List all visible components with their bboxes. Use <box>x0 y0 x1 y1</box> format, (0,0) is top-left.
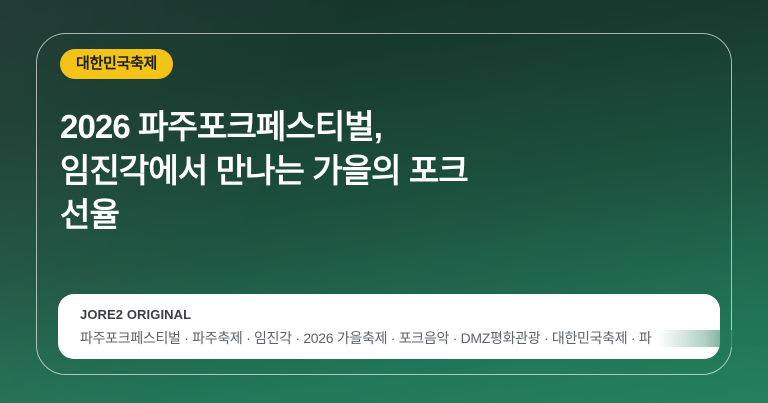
original-label: JORE2 ORIGINAL <box>80 307 720 323</box>
tag-list-text: 파주포크페스티벌 · 파주축제 · 임진각 · 2026 가을축제 · 포크음악… <box>80 330 651 346</box>
tag-list-fade-overlay <box>658 330 768 348</box>
page-title-line-1: 2026 파주포크페스티벌, <box>60 105 732 149</box>
original-info-card: JORE2 ORIGINAL 파주포크페스티벌 · 파주축제 · 임진각 · 2… <box>58 294 720 359</box>
hero-content: 대한민국축제 2026 파주포크페스티벌, 임진각에서 만나는 가을의 포크 선… <box>36 33 732 375</box>
page-title: 2026 파주포크페스티벌, 임진각에서 만나는 가을의 포크 선율 <box>60 105 732 237</box>
page-title-line-3: 선율 <box>60 193 732 237</box>
page-title-line-2: 임진각에서 만나는 가을의 포크 <box>60 149 732 193</box>
category-badge: 대한민국축제 <box>60 49 173 79</box>
festival-hero-banner: 대한민국축제 2026 파주포크페스티벌, 임진각에서 만나는 가을의 포크 선… <box>0 0 768 403</box>
tag-list: 파주포크페스티벌 · 파주축제 · 임진각 · 2026 가을축제 · 포크음악… <box>80 330 720 348</box>
